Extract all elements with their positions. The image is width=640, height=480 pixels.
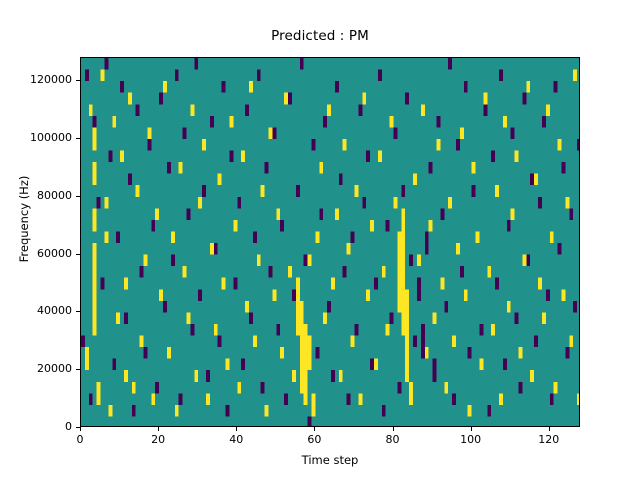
page-title: Predicted : PM	[0, 28, 640, 44]
x-tick-mark	[549, 427, 550, 431]
x-tick-mark	[80, 427, 81, 431]
y-tick-mark	[76, 369, 80, 370]
x-axis-label: Time step	[80, 453, 580, 467]
x-tick-mark	[158, 427, 159, 431]
y-tick-mark	[76, 80, 80, 81]
y-tick-mark	[76, 254, 80, 255]
x-tick-mark	[314, 427, 315, 431]
y-tick-label: 100000	[30, 132, 72, 143]
y-tick-label: 80000	[37, 190, 72, 201]
y-tick-label: 120000	[30, 74, 72, 85]
heatmap-cells	[81, 58, 580, 427]
x-tick-label: 0	[77, 434, 84, 445]
y-tick-label: 40000	[37, 305, 72, 316]
x-tick-label: 20	[151, 434, 165, 445]
y-tick-mark	[76, 196, 80, 197]
x-tick-label: 60	[307, 434, 321, 445]
y-tick-label: 60000	[37, 248, 72, 259]
x-tick-label: 120	[538, 434, 559, 445]
y-tick-mark	[76, 427, 80, 428]
y-tick-mark	[76, 311, 80, 312]
figure-canvas: Predicted : PM 0200004000060000800001000…	[0, 0, 640, 480]
x-tick-label: 100	[460, 434, 481, 445]
y-tick-mark	[76, 138, 80, 139]
x-tick-mark	[471, 427, 472, 431]
y-tick-label: 0	[65, 421, 72, 432]
x-tick-mark	[236, 427, 237, 431]
y-tick-label: 20000	[37, 363, 72, 374]
x-tick-label: 80	[386, 434, 400, 445]
heatmap-plot-area[interactable]	[80, 57, 580, 427]
x-tick-label: 40	[229, 434, 243, 445]
x-tick-mark	[393, 427, 394, 431]
y-axis-label: Frequency (Hz)	[17, 139, 31, 299]
